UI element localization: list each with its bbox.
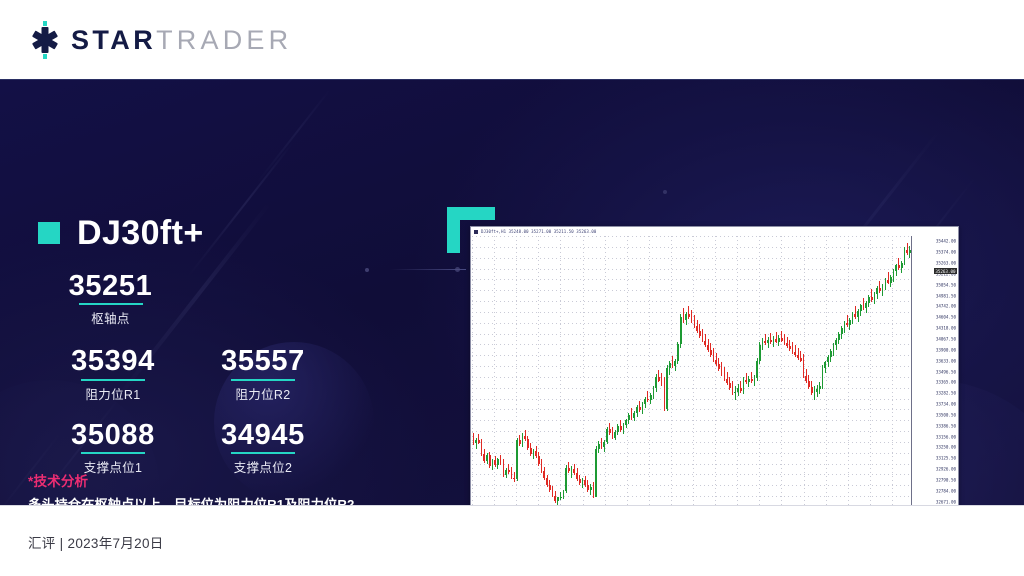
stat-support-2: 34945 支撑点位2	[188, 419, 338, 476]
price-tick-label: 35374.00	[936, 250, 956, 255]
price-tick-label: 33282.50	[936, 391, 956, 396]
stat-label: 枢轴点	[33, 308, 188, 327]
stat-resistance-2: 35557 阻力位R2	[188, 345, 338, 402]
footer-caption: 汇评 | 2023年7月20日	[28, 532, 164, 552]
stat-label: 阻力位R1	[38, 384, 188, 403]
asterisk-star-icon	[28, 21, 62, 59]
stat-value: 34945	[188, 419, 338, 451]
price-tick-label: 35054.50	[936, 282, 956, 287]
price-tick-label: 33633.00	[936, 358, 956, 363]
price-tick-label: 32784.00	[936, 488, 956, 493]
price-tick-label: 33365.00	[936, 380, 956, 385]
price-tick-label: 32671.00	[936, 499, 956, 504]
analysis-body: 多头持仓在枢轴点以上，目标位为阻力位R1及阻力位R2。 若低于枢轴点，则可能下跌…	[28, 495, 420, 505]
stat-underline	[231, 379, 295, 381]
price-tick-label: 33386.50	[936, 423, 956, 428]
support-row: 35088 支撑点位1 34945 支撑点位2	[38, 419, 338, 476]
chart-symbol-icon	[474, 230, 478, 234]
stat-value: 35394	[38, 345, 188, 377]
stat-value: 35088	[38, 419, 188, 451]
price-tick-label: 34318.00	[936, 326, 956, 331]
price-tick-label: 34067.50	[936, 336, 956, 341]
page-footer: 汇评 | 2023年7月20日	[0, 505, 1024, 576]
chart-plot-area[interactable]	[472, 236, 912, 505]
analysis-title: *技术分析	[28, 470, 420, 490]
price-tick-label: 33500.50	[936, 412, 956, 417]
stat-underline	[81, 452, 145, 454]
current-price-label: 35263.00	[934, 268, 957, 274]
price-chart-window[interactable]: DJ30ft+,H1 35248.00 35271.00 35211.50 35…	[470, 226, 959, 505]
chart-header-text: DJ30ft+,H1 35248.00 35271.00 35211.50 35…	[481, 229, 596, 234]
stat-underline	[79, 303, 143, 305]
price-tick-label: 35263.00	[936, 261, 956, 266]
stat-value: 35251	[33, 270, 188, 302]
stat-support-1: 35088 支撑点位1	[38, 419, 188, 476]
hero-panel: DJ30ft+ 35251 枢轴点 35394 阻力位R1 35557 阻力位R…	[0, 80, 1024, 505]
chart-header-bar: DJ30ft+,H1 35248.00 35271.00 35211.50 35…	[471, 227, 958, 236]
price-tick-label: 33900.00	[936, 347, 956, 352]
decorative-dot	[455, 267, 460, 272]
stat-underline	[81, 379, 145, 381]
footer-divider	[0, 505, 1024, 506]
page-title: DJ30ft+	[77, 216, 204, 250]
square-marker-icon	[38, 222, 60, 244]
price-tick-label: 34981.50	[936, 293, 956, 298]
analysis-line: 多头持仓在枢轴点以上，目标位为阻力位R1及阻力位R2。	[28, 495, 420, 505]
stat-value: 35557	[188, 345, 338, 377]
price-tick-label: 34742.00	[936, 304, 956, 309]
brand-logo[interactable]: STAR TRADER	[28, 21, 292, 59]
price-tick-label: 32790.50	[936, 477, 956, 482]
price-tick-label: 34604.50	[936, 315, 956, 320]
price-tick-label: 33250.00	[936, 445, 956, 450]
decorative-dot	[365, 268, 369, 272]
resistance-row: 35394 阻力位R1 35557 阻力位R2	[38, 345, 338, 402]
price-tick-label: 35442.00	[936, 239, 956, 244]
brand-name-trader: TRADER	[156, 25, 292, 56]
stat-label: 阻力位R2	[188, 384, 338, 403]
stat-pivot: 35251 枢轴点	[33, 270, 188, 327]
pivot-stats: 35251 枢轴点 35394 阻力位R1 35557 阻力位R2 35	[38, 270, 338, 476]
instrument-title: DJ30ft+	[38, 216, 204, 250]
page-header: STAR TRADER	[0, 0, 1024, 80]
candlestick-series	[472, 236, 911, 505]
stat-resistance-1: 35394 阻力位R1	[38, 345, 188, 402]
price-tick-label: 33156.00	[936, 434, 956, 439]
chart-price-axis[interactable]: 35442.0035374.0035263.0035212.0035054.50…	[912, 236, 958, 505]
stat-underline	[231, 452, 295, 454]
brand-name-star: STAR	[71, 25, 156, 56]
price-tick-label: 33734.00	[936, 402, 956, 407]
decorative-dot	[663, 190, 667, 194]
price-tick-label: 33125.50	[936, 456, 956, 461]
price-tick-label: 32926.00	[936, 467, 956, 472]
price-tick-label: 33496.50	[936, 369, 956, 374]
slide-root: STAR TRADER DJ30ft+ 35251	[0, 0, 1024, 576]
technical-analysis: *技术分析 多头持仓在枢轴点以上，目标位为阻力位R1及阻力位R2。 若低于枢轴点…	[28, 470, 420, 505]
